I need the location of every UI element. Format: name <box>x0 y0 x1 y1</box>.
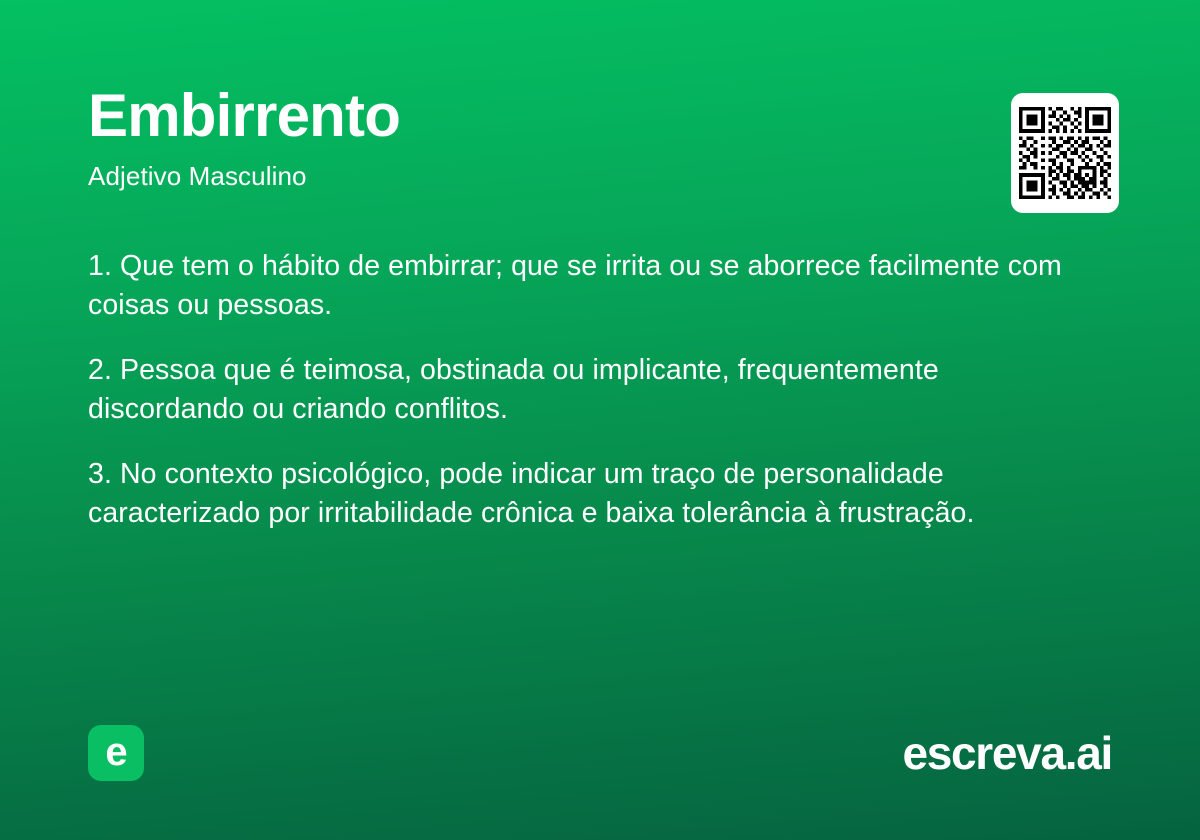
definition-item: 1. Que tem o hábito de embirrar; que se … <box>88 247 1078 325</box>
qr-code-container[interactable] <box>1011 93 1119 213</box>
brand-wordmark: escreva.ai <box>902 730 1112 776</box>
definition-list: 1. Que tem o hábito de embirrar; que se … <box>88 247 1078 533</box>
definition-item: 2. Pessoa que é teimosa, obstinada ou im… <box>88 351 1078 429</box>
brand-logo-letter: e <box>105 732 126 772</box>
card-footer: e escreva.ai <box>88 724 1112 782</box>
dictionary-card: Embirrento Adjetivo Masculino <box>0 0 1200 840</box>
card-header: Embirrento Adjetivo Masculino <box>88 86 1112 191</box>
definition-item: 3. No contexto psicológico, pode indicar… <box>88 455 1078 533</box>
word-class-label: Adjetivo Masculino <box>88 162 1112 191</box>
page-title: Embirrento <box>88 86 1112 146</box>
qr-code-icon <box>1019 101 1111 205</box>
brand-logo-icon: e <box>88 725 144 781</box>
